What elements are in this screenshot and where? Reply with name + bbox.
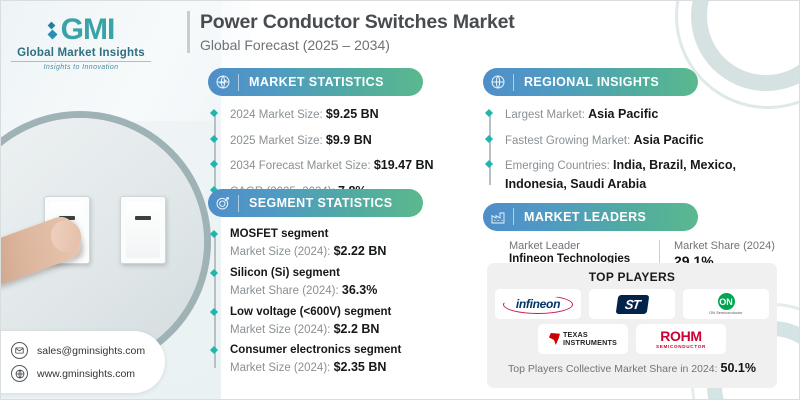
regional-insights-list: Largest Market: Asia Pacific Fastest Gro…	[483, 105, 783, 194]
envelope-icon	[11, 342, 28, 359]
contact-website-row[interactable]: www.gminsights.com	[11, 365, 165, 382]
diamond-icon	[48, 22, 57, 39]
on-logo-subtext: ON Semiconductor	[709, 311, 743, 315]
contact-email-row[interactable]: sales@gminsights.com	[11, 342, 165, 359]
segment-metric-label: Market Size (2024):	[230, 324, 330, 336]
segment-name: MOSFET segment	[230, 226, 463, 242]
stmicroelectronics-logo: ST	[589, 289, 675, 319]
region-value: Asia Pacific	[588, 107, 658, 121]
logo-tagline: Insights to Innovation	[11, 64, 151, 71]
segment-metric-value: 36.3%	[342, 283, 377, 297]
market-leaders-header: MARKET LEADERS	[483, 203, 698, 231]
ti-logo-line2: INSTRUMENTS	[563, 339, 617, 347]
contact-block: sales@gminsights.com www.gminsights.com	[1, 331, 165, 393]
globe-icon	[483, 68, 513, 96]
contact-email[interactable]: sales@gminsights.com	[37, 345, 145, 357]
segment-metric-label: Market Size (2024):	[230, 362, 330, 374]
rohm-logo-text: ROHM	[660, 329, 702, 343]
top-players-title: TOP PLAYERS	[495, 270, 769, 284]
factory-icon	[483, 203, 513, 231]
top-players-row-1: infineon ST ON ON Semiconductor	[495, 289, 769, 319]
regional-insights-section: REGIONAL INSIGHTS Largest Market: Asia P…	[483, 68, 783, 283]
segment-statistics-label: SEGMENT STATISTICS	[239, 196, 393, 210]
contact-website[interactable]: www.gminsights.com	[37, 368, 135, 380]
segment-metric-value: $2.35 BN	[334, 360, 387, 374]
on-logo-text: ON	[718, 293, 735, 310]
segment-metric-label: Market Share (2024):	[230, 285, 339, 297]
list-item: Emerging Countries: India, Brazil, Mexic…	[505, 156, 783, 193]
globe-chart-icon	[208, 68, 238, 96]
segment-statistics-list: MOSFET segment Market Size (2024): $2.22…	[208, 226, 463, 377]
market-statistics-label: MARKET STATISTICS	[239, 75, 384, 89]
rohm-logo-subtext: SEMICONDUCTOR	[656, 344, 706, 349]
rocker-icon	[126, 202, 160, 258]
title-main: Power Conductor Switches Market	[200, 11, 515, 34]
infineon-logo: infineon	[495, 289, 581, 319]
st-logo-text: ST	[615, 295, 648, 314]
list-item: 2034 Forecast Market Size: $19.47 BN	[230, 156, 458, 175]
list-item: Consumer electronics segment Market Size…	[230, 342, 463, 377]
regional-insights-header: REGIONAL INSIGHTS	[483, 68, 698, 96]
top-players-row-2: TEXAS INSTRUMENTS ROHM SEMICONDUCTOR	[495, 324, 769, 354]
logo-company-name: Global Market Insights	[11, 47, 151, 62]
region-label: Largest Market:	[505, 109, 585, 121]
infographic-canvas: GMI Global Market Insights Insights to I…	[1, 1, 799, 399]
list-item: Low voltage (<600V) segment Market Size …	[230, 304, 463, 339]
segment-statistics-header: SEGMENT STATISTICS	[208, 189, 423, 217]
list-item: Fastest Growing Market: Asia Pacific	[505, 131, 783, 150]
logo-letters: GMI	[61, 15, 115, 45]
stat-label: 2034 Forecast Market Size:	[230, 160, 371, 172]
segment-metric-value: $2.22 BN	[334, 244, 387, 258]
stat-label: 2024 Market Size:	[230, 109, 323, 121]
collective-share-value: 50.1%	[721, 361, 756, 375]
stat-label: 2025 Market Size:	[230, 135, 323, 147]
stat-value: $19.47 BN	[374, 158, 434, 172]
logo-mark: GMI	[11, 15, 151, 45]
segment-name: Consumer electronics segment	[230, 342, 463, 358]
collective-share: Top Players Collective Market Share in 2…	[495, 361, 769, 375]
list-item: 2024 Market Size: $9.25 BN	[230, 105, 458, 124]
segment-metric-label: Market Size (2024):	[230, 246, 330, 258]
page-title: Power Conductor Switches Market Global F…	[187, 11, 515, 53]
segment-statistics-section: SEGMENT STATISTICS MOSFET segment Market…	[208, 189, 463, 381]
regional-insights-label: REGIONAL INSIGHTS	[514, 75, 659, 89]
list-item: 2025 Market Size: $9.9 BN	[230, 131, 458, 150]
stat-value: $9.25 BN	[326, 107, 379, 121]
rohm-logo: ROHM SEMICONDUCTOR	[636, 324, 726, 354]
texas-state-icon	[549, 333, 560, 345]
market-statistics-header: MARKET STATISTICS	[208, 68, 423, 96]
region-value: Asia Pacific	[633, 133, 703, 147]
region-label: Fastest Growing Market:	[505, 135, 630, 147]
light-switch-right	[120, 196, 166, 264]
list-item: Largest Market: Asia Pacific	[505, 105, 783, 124]
top-players-card: TOP PLAYERS infineon ST ON ON Semiconduc…	[487, 263, 777, 388]
gmi-logo: GMI Global Market Insights Insights to I…	[11, 15, 151, 71]
market-statistics-list: 2024 Market Size: $9.25 BN 2025 Market S…	[208, 105, 458, 201]
market-leader-label: Market Leader	[509, 240, 659, 252]
segment-name: Low voltage (<600V) segment	[230, 304, 463, 320]
region-label: Emerging Countries:	[505, 160, 610, 172]
title-subtitle: Global Forecast (2025 – 2034)	[200, 37, 515, 53]
target-chart-icon	[208, 189, 238, 217]
texas-instruments-logo: TEXAS INSTRUMENTS	[538, 324, 628, 354]
list-item: Silicon (Si) segment Market Share (2024)…	[230, 265, 463, 300]
market-statistics-section: MARKET STATISTICS 2024 Market Size: $9.2…	[208, 68, 458, 208]
segment-metric-value: $2.2 BN	[334, 322, 380, 336]
list-item: MOSFET segment Market Size (2024): $2.22…	[230, 226, 463, 261]
collective-share-label: Top Players Collective Market Share in 2…	[508, 363, 718, 375]
stat-value: $9.9 BN	[326, 133, 372, 147]
globe-icon	[11, 365, 28, 382]
market-leaders-label: MARKET LEADERS	[514, 210, 646, 224]
onsemiconductor-logo: ON ON Semiconductor	[683, 289, 769, 319]
market-share-label: Market Share (2024)	[674, 240, 775, 252]
segment-name: Silicon (Si) segment	[230, 265, 463, 281]
